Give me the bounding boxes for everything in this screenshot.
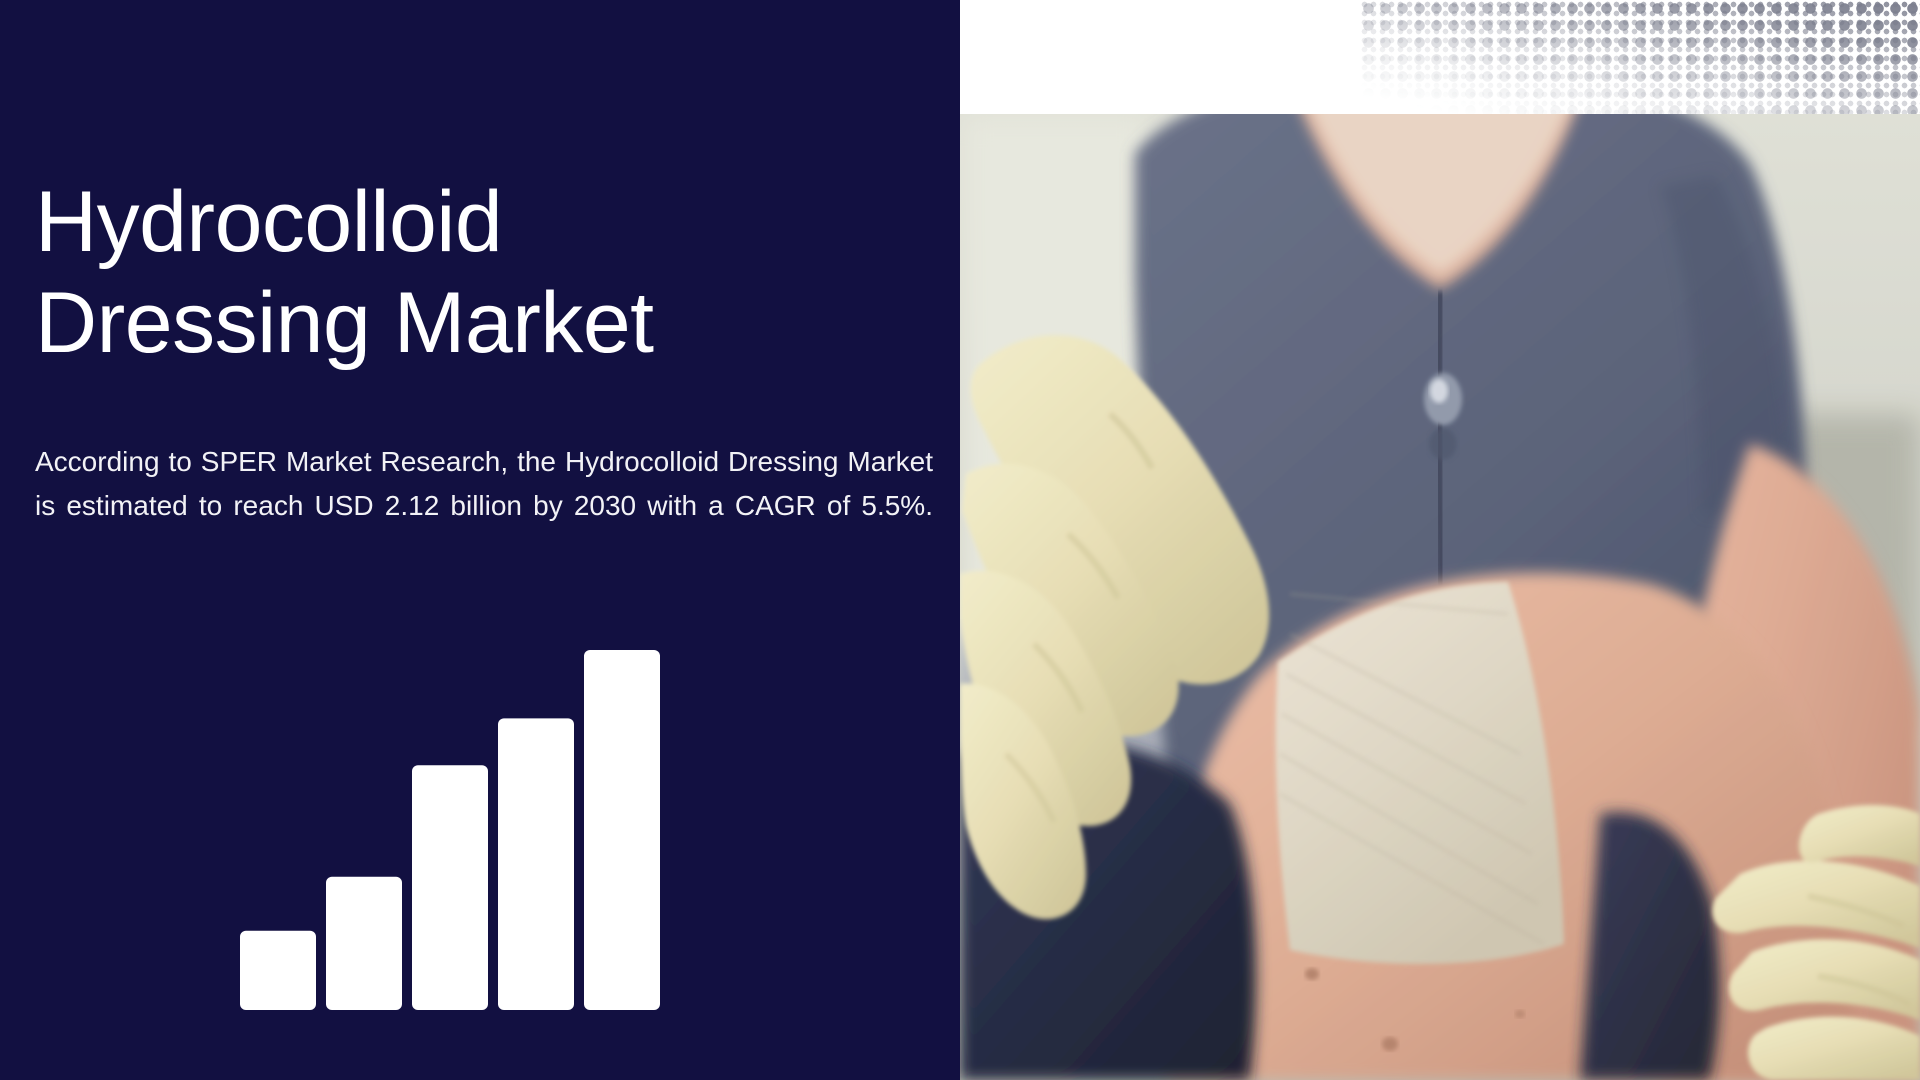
page-title: Hydrocolloid Dressing Market — [35, 172, 915, 375]
photo-column — [960, 0, 1920, 1080]
hero-photo — [960, 114, 1920, 1080]
chart-bar — [326, 877, 402, 1010]
chart-bar — [412, 765, 488, 1010]
slide-root: Hydrocolloid Dressing Market According t… — [0, 0, 1920, 1080]
page-subtitle: According to SPER Market Research, the H… — [35, 440, 933, 571]
growth-bar-chart — [240, 650, 660, 1010]
chart-bar — [584, 650, 660, 1010]
chart-bar — [498, 718, 574, 1010]
content-panel: Hydrocolloid Dressing Market According t… — [0, 0, 960, 1080]
halftone-dot-gradient-fine-icon — [1360, 0, 1920, 114]
chart-bar — [240, 931, 316, 1010]
